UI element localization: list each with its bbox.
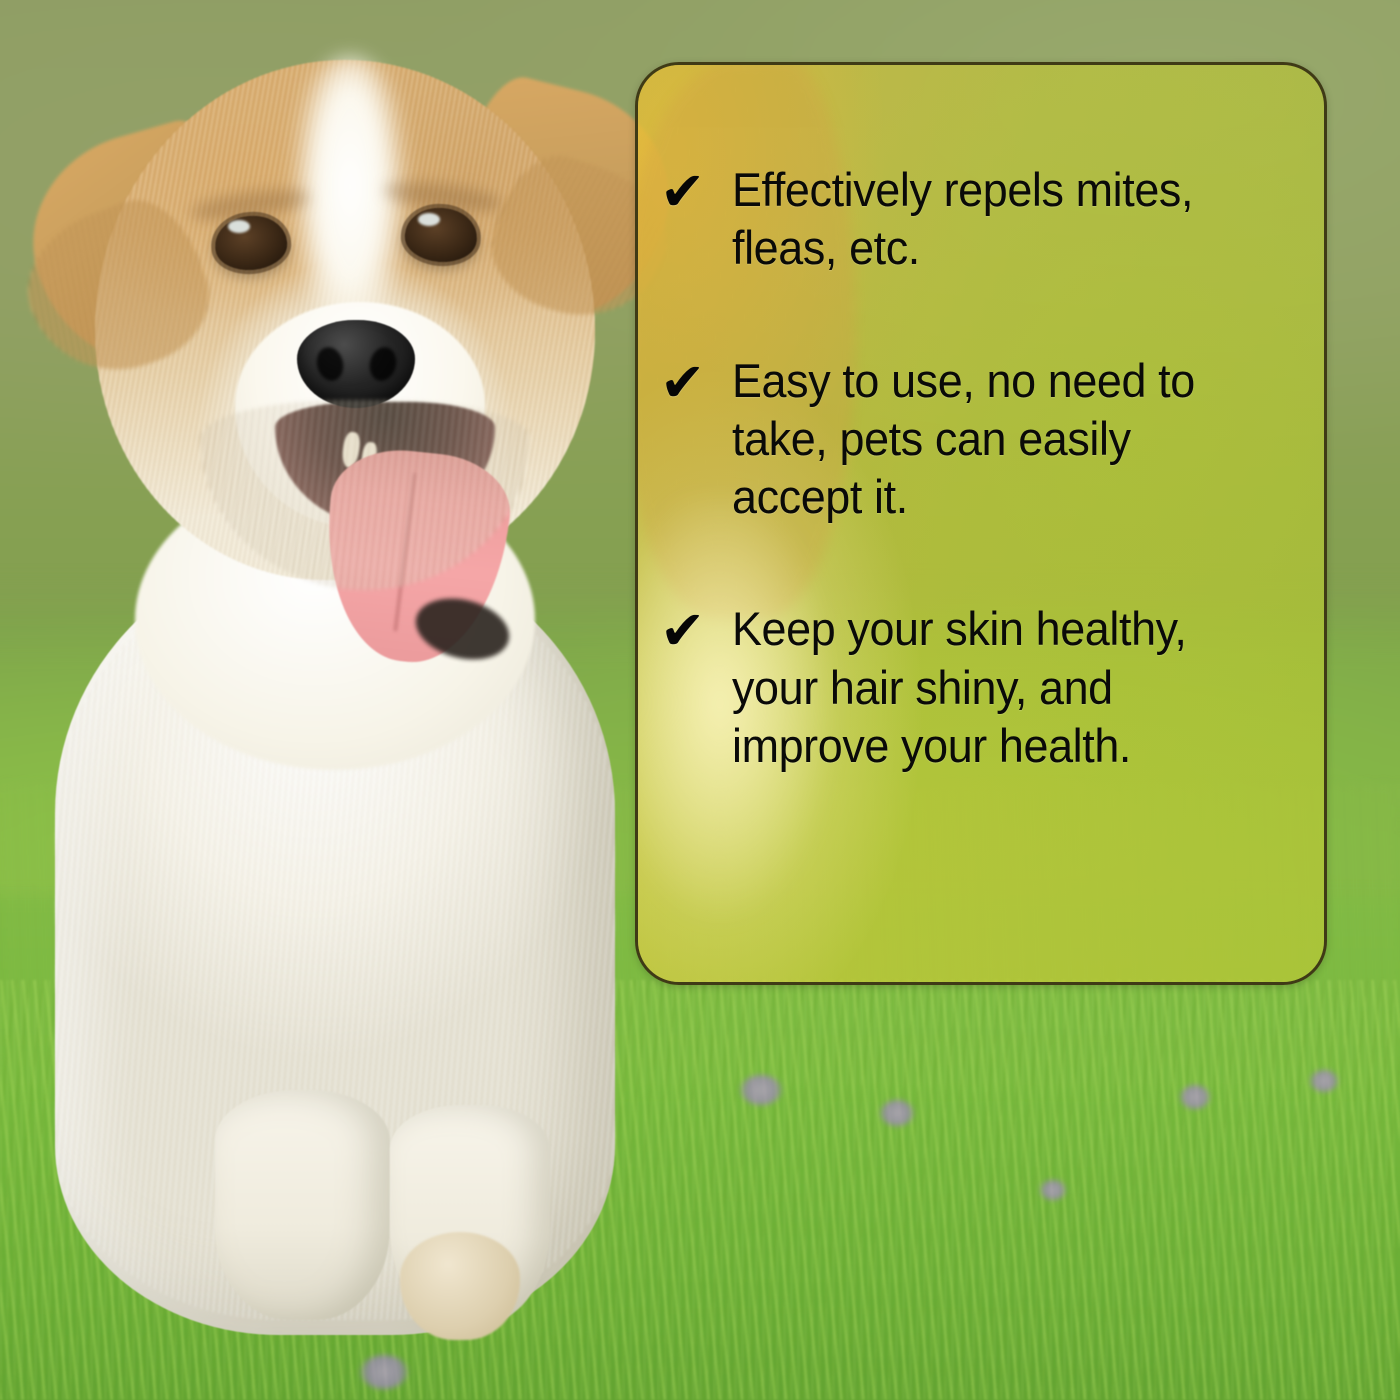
dog-photo-subject <box>0 0 700 1400</box>
check-mark-icon: ✔ <box>660 600 732 658</box>
feature-item-label: Effectively repels mites, fleas, etc. <box>732 161 1271 278</box>
check-mark-icon: ✔ <box>660 161 732 219</box>
clover-flower <box>1040 1180 1066 1200</box>
dog-paw <box>400 1232 520 1340</box>
feature-item: ✔ Effectively repels mites, fleas, etc. <box>660 161 1296 278</box>
clover-flower <box>1310 1070 1338 1092</box>
clover-flower <box>880 1100 914 1126</box>
clover-flower <box>1180 1085 1210 1109</box>
dog-right-eye-highlight <box>418 213 440 226</box>
dog-left-eye-highlight <box>228 220 250 233</box>
feature-item: ✔ Keep your skin healthy, your hair shin… <box>660 600 1296 775</box>
product-banner: ✔ Effectively repels mites, fleas, etc. … <box>0 0 1400 1400</box>
feature-item-label: Keep your skin healthy, your hair shiny,… <box>732 600 1271 775</box>
feature-list-card: ✔ Effectively repels mites, fleas, etc. … <box>635 62 1327 985</box>
clover-flower <box>740 1075 782 1105</box>
feature-list: ✔ Effectively repels mites, fleas, etc. … <box>638 65 1324 775</box>
feature-item-label: Easy to use, no need to take, pets can e… <box>732 352 1271 527</box>
feature-item: ✔ Easy to use, no need to take, pets can… <box>660 352 1296 527</box>
dog-head <box>25 20 645 620</box>
dog-front-left-leg <box>215 1090 390 1320</box>
check-mark-icon: ✔ <box>660 352 732 410</box>
